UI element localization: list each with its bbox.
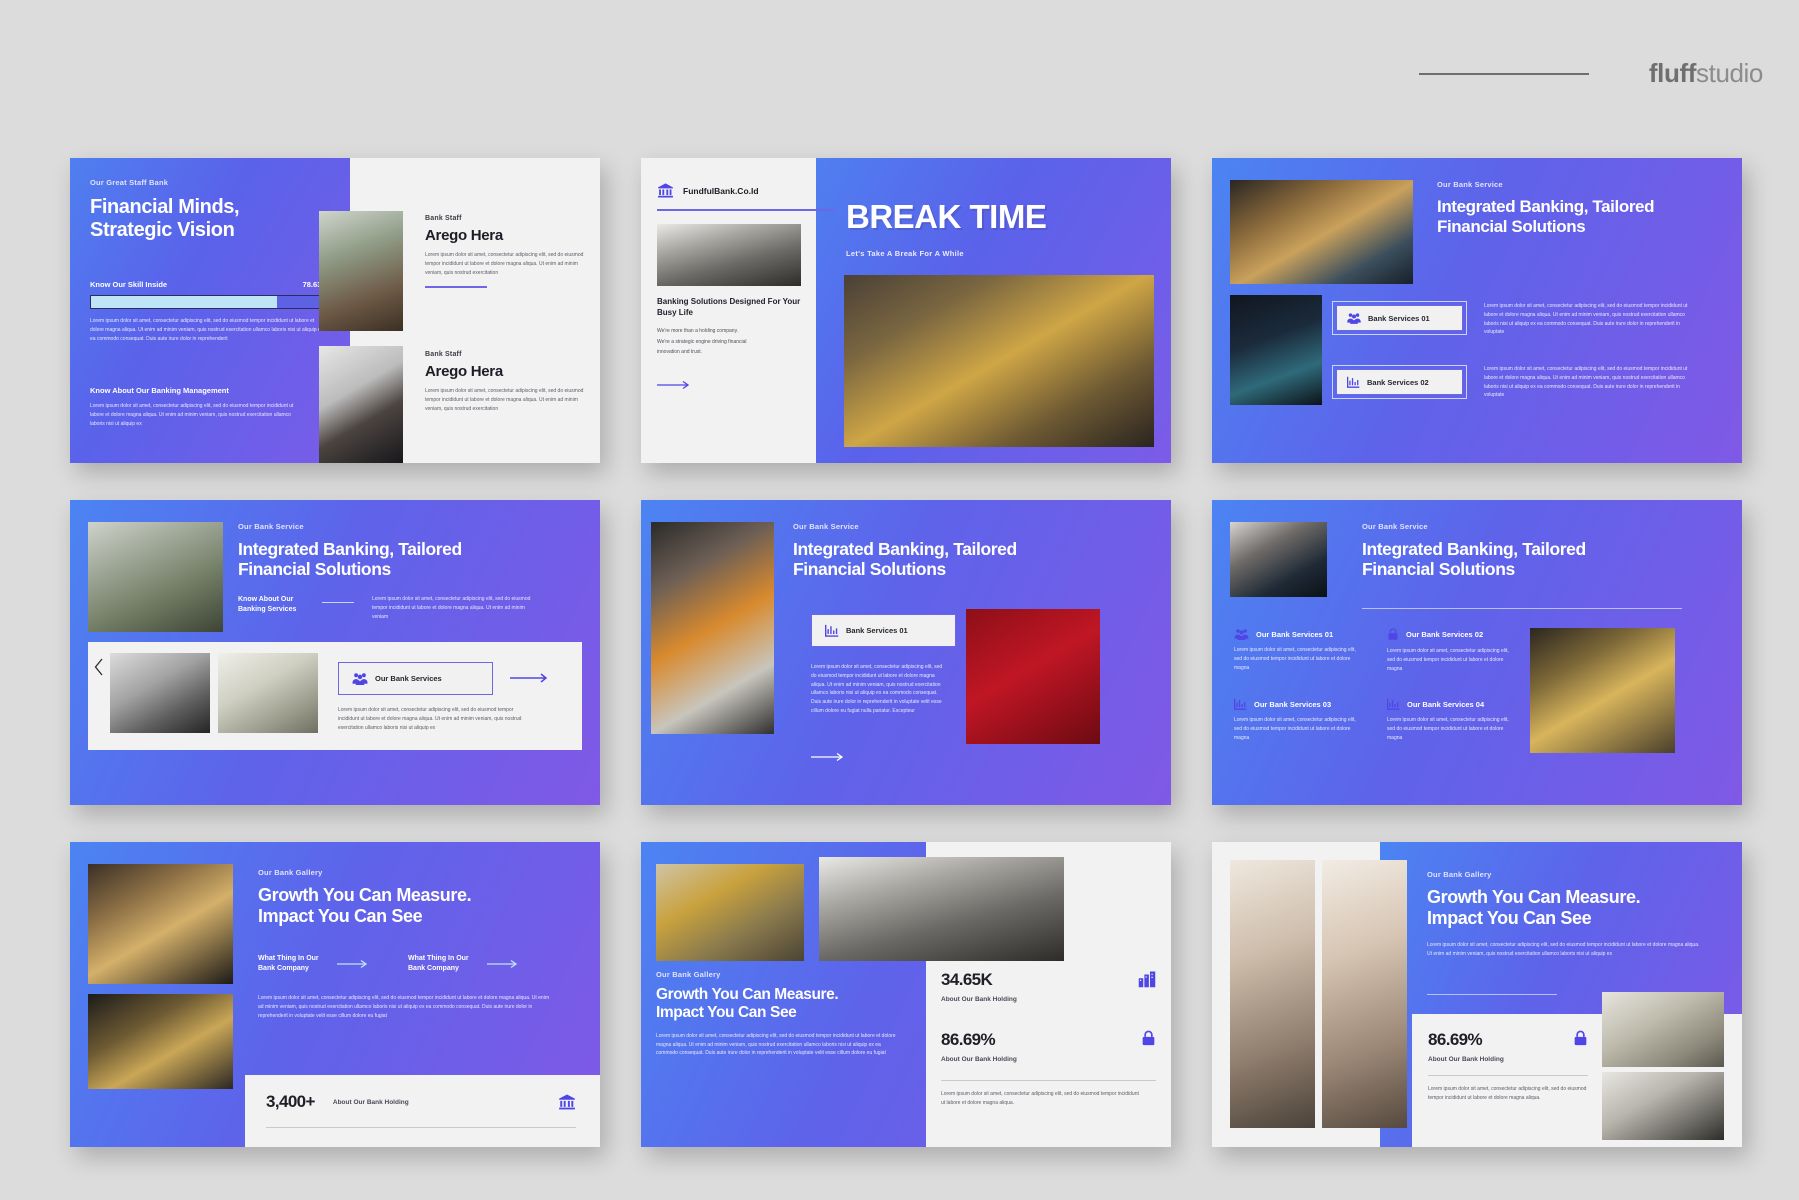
slide7-body: Lorem ipsum dolor sit amet, consectetur … <box>258 994 550 1020</box>
slide9-eyebrow: Our Bank Gallery <box>1427 870 1722 879</box>
slide1-staff-2-role: Bank Staff <box>425 351 585 358</box>
slide6-rule <box>1362 608 1682 609</box>
slide1-eyebrow: Our Great Staff Bank <box>90 178 338 187</box>
slide3-service-1-label: Bank Services 01 <box>1368 314 1430 323</box>
slide-8-growth-stats[interactable]: Our Bank Gallery Growth You Can Measure.… <box>641 842 1171 1147</box>
people-group-icon <box>1347 312 1361 324</box>
slide2-card-title: Banking Solutions Designed For Your Busy… <box>657 296 801 318</box>
slide-4-bank-services[interactable]: Our Bank Service Integrated Banking, Tai… <box>70 500 600 805</box>
slide7-link-2-line2: Bank Company <box>408 964 469 974</box>
slide8-footer-body: Lorem ipsum dolor sit amet, consectetur … <box>941 1090 1141 1108</box>
slide9-family-photo-2 <box>1322 860 1407 1128</box>
fluffstudio-logo: fluffstudio <box>1649 58 1763 89</box>
slide2-bank-photo <box>657 224 801 286</box>
slide6-service-4[interactable]: Our Bank Services 04 Lorem ipsum dolor s… <box>1387 698 1512 742</box>
slide1-staff-photo-2 <box>319 346 403 463</box>
bar-chart-icon <box>825 624 839 637</box>
slide6-service-1-label: Our Bank Services 01 <box>1256 630 1333 639</box>
slide7-cardgold-photo <box>88 994 233 1089</box>
bar-chart-icon <box>1347 376 1360 388</box>
people-group-icon <box>352 672 368 685</box>
slide4-sub-label: Know About Our Banking Services <box>238 595 310 615</box>
slide6-service-1-body: Lorem ipsum dolor sit amet, consectetur … <box>1234 646 1359 672</box>
slide2-card-body-3: innovation and trust. <box>657 347 801 358</box>
slide2-arrow-link[interactable] <box>657 380 693 390</box>
slide9-body: Lorem ipsum dolor sit amet, consectetur … <box>1427 941 1702 959</box>
slide7-link-2-line1: What Thing In Our <box>408 954 469 964</box>
slide8-stat-1: 34.65K About Our Bank Holding <box>941 970 1156 1003</box>
slide3-title: Integrated Banking, Tailored Financial S… <box>1437 197 1677 236</box>
slide-2-break-time[interactable]: FundfulBank.Co.Id Banking Solutions Desi… <box>641 158 1171 463</box>
slide4-sub-body: Lorem ipsum dolor sit amet, consectetur … <box>372 595 532 621</box>
presentation-mockup-page: fluffstudio Our Great Staff Bank Financi… <box>0 0 1799 1200</box>
slide4-sub-rule <box>322 602 354 603</box>
brand-rule <box>1419 73 1589 75</box>
slide4-cash-photo <box>88 522 223 632</box>
slide-9-growth-family[interactable]: Our Bank Gallery Growth You Can Measure.… <box>1212 842 1742 1147</box>
slide2-card-body-1: We're more than a holding company. <box>657 326 801 337</box>
slide3-vault-photo <box>1230 180 1413 284</box>
slide8-title-line1: Growth You Can Measure. <box>656 986 911 1004</box>
slide8-divider <box>941 1080 1156 1081</box>
slide1-staff-1-name: Arego Hera <box>425 227 585 244</box>
slide1-management-body: Lorem ipsum dolor sit amet, consectetur … <box>90 402 305 428</box>
people-group-icon <box>1234 628 1249 640</box>
slide1-staff-2-name: Arego Hera <box>425 363 585 380</box>
slide3-service-1-wrapper[interactable]: Bank Services 01 <box>1332 301 1467 335</box>
skill-progress-bar <box>90 295 328 309</box>
slide9-rule <box>1427 994 1557 995</box>
slide2-gold-photo <box>844 275 1154 447</box>
slide5-service-button[interactable]: Bank Services 01 <box>811 614 956 647</box>
slide3-body-1: Lorem ipsum dolor sit amet, consectetur … <box>1484 302 1689 337</box>
slide6-service-2[interactable]: Our Bank Services 02 Lorem ipsum dolor s… <box>1387 628 1512 673</box>
slide9-family-photo-1 <box>1230 860 1315 1128</box>
slide-6-four-services[interactable]: Our Bank Service Integrated Banking, Tai… <box>1212 500 1742 805</box>
slide1-body: Lorem ipsum dolor sit amet, consectetur … <box>90 317 328 343</box>
slides-grid: Our Great Staff Bank Financial Minds, St… <box>70 158 1742 1147</box>
slide3-service-2-wrapper[interactable]: Bank Services 02 <box>1332 365 1467 399</box>
slide7-title-line2: Impact You Can See <box>258 906 558 927</box>
lock-icon <box>1141 1030 1156 1047</box>
logo-text-light: studio <box>1696 58 1763 88</box>
slide1-staff-1-body: Lorem ipsum dolor sit amet, consectetur … <box>425 251 585 277</box>
bank-building-icon <box>657 182 674 199</box>
slide6-service-4-label: Our Bank Services 04 <box>1407 700 1484 709</box>
slide4-eyebrow: Our Bank Service <box>238 522 533 531</box>
slide4-title: Integrated Banking, Tailored Financial S… <box>238 539 533 580</box>
slide7-link-1-line1: What Thing In Our <box>258 954 319 964</box>
slide4-phone-photo <box>110 653 210 733</box>
slide7-title-line1: Growth You Can Measure. <box>258 885 558 906</box>
slide9-money-photo <box>1602 992 1724 1067</box>
slide9-title-line1: Growth You Can Measure. <box>1427 887 1722 908</box>
slide2-title: BREAK TIME <box>846 198 1156 236</box>
slide3-service-1-button[interactable]: Bank Services 01 <box>1336 305 1463 331</box>
slide1-staff-photo-1 <box>319 211 403 331</box>
brand-bar: fluffstudio <box>1419 58 1763 89</box>
logo-text-bold: fluff <box>1649 58 1696 88</box>
arrow-right-icon <box>487 959 521 969</box>
slide3-body-2: Lorem ipsum dolor sit amet, consectetur … <box>1484 365 1689 400</box>
slide7-stat-value: 3,400+ <box>266 1092 315 1112</box>
skill-progress-fill <box>91 296 277 308</box>
slide7-eyebrow: Our Bank Gallery <box>258 868 558 877</box>
slide8-stat-1-label: About Our Bank Holding <box>941 996 1156 1003</box>
slide9-stat-value: 86.69% <box>1428 1030 1482 1050</box>
slide8-title-line2: Impact You Can See <box>656 1004 911 1022</box>
slide6-service-2-label: Our Bank Services 02 <box>1406 630 1483 639</box>
slide4-card-body: Lorem ipsum dolor sit amet, consectetur … <box>338 706 533 732</box>
slide5-title: Integrated Banking, Tailored Financial S… <box>793 539 1093 580</box>
slide4-service-button[interactable]: Our Bank Services <box>338 662 493 695</box>
slide2-rule <box>657 209 835 211</box>
slide1-title-line2: Strategic Vision <box>90 219 338 242</box>
slide7-link-1-line2: Bank Company <box>258 964 319 974</box>
slide6-laptop-photo <box>1230 522 1327 597</box>
slide8-stat-2-label: About Our Bank Holding <box>941 1056 1156 1063</box>
slide3-service-2-label: Bank Services 02 <box>1367 378 1429 387</box>
slide1-title-line1: Financial Minds, <box>90 196 338 219</box>
slide9-stat-label: About Our Bank Holding <box>1428 1056 1588 1063</box>
slide4-next-arrow[interactable] <box>510 672 552 684</box>
slide7-stat-label: About Our Bank Holding <box>333 1099 409 1106</box>
slide2-subtitle: Let's Take A Break For A While <box>846 249 1156 258</box>
slide6-service-4-body: Lorem ipsum dolor sit amet, consectetur … <box>1387 716 1512 742</box>
slide6-service-3[interactable]: Our Bank Services 03 Lorem ipsum dolor s… <box>1234 698 1359 742</box>
slide5-card-photo <box>651 522 774 734</box>
slide1-management-label: Know About Our Banking Management <box>90 386 305 395</box>
slide5-gold-red-photo <box>966 609 1100 744</box>
slide1-staff-1-role: Bank Staff <box>425 215 585 222</box>
slide8-eyebrow: Our Bank Gallery <box>656 970 911 979</box>
slide3-eyebrow: Our Bank Service <box>1437 180 1677 189</box>
slide9-calc-photo <box>1602 1072 1724 1140</box>
slide5-body: Lorem ipsum dolor sit amet, consectetur … <box>811 663 944 716</box>
slide7-link-1[interactable]: What Thing In Our Bank Company <box>258 954 371 974</box>
slide4-service-label: Our Bank Services <box>375 674 442 683</box>
bar-chart-icon <box>1387 698 1400 710</box>
slide-1-financial-minds[interactable]: Our Great Staff Bank Financial Minds, St… <box>70 158 600 463</box>
slide7-watch-photo <box>88 864 233 984</box>
slide2-brand: FundfulBank.Co.Id <box>683 186 759 196</box>
slide6-eyebrow: Our Bank Service <box>1362 522 1662 531</box>
slide9-divider <box>1428 1075 1588 1076</box>
slide8-stat-2: 86.69% About Our Bank Holding <box>941 1030 1156 1063</box>
slide3-stock-photo <box>1230 295 1322 405</box>
slide6-service-3-body: Lorem ipsum dolor sit amet, consectetur … <box>1234 716 1359 742</box>
slide5-eyebrow: Our Bank Service <box>793 522 1093 531</box>
slide6-service-2-body: Lorem ipsum dolor sit amet, consectetur … <box>1387 647 1512 673</box>
lock-icon <box>1573 1030 1588 1047</box>
slide3-service-2-button[interactable]: Bank Services 02 <box>1336 369 1463 395</box>
slide7-link-2[interactable]: What Thing In Our Bank Company <box>408 954 521 974</box>
slide8-stat-1-value: 34.65K <box>941 970 992 990</box>
slide4-bills-photo <box>218 653 318 733</box>
slide-5-bank-services-01[interactable]: Our Bank Service Integrated Banking, Tai… <box>641 500 1171 805</box>
slide4-prev-arrow[interactable] <box>94 658 104 676</box>
slide2-card-body-2: We're a strategic engine driving financi… <box>657 337 801 348</box>
bank-building-icon <box>558 1093 576 1111</box>
bar-chart-icon <box>1234 698 1247 710</box>
slide1-skill-label: Know Our Skill Inside <box>90 280 167 289</box>
slide8-coins-photo <box>656 864 804 961</box>
slide8-stat-2-value: 86.69% <box>941 1030 995 1050</box>
slide1-staff-1-rule <box>425 286 487 288</box>
slide6-goldbar-photo <box>1530 628 1675 753</box>
lock-icon <box>1387 628 1399 641</box>
slide6-title: Integrated Banking, Tailored Financial S… <box>1362 539 1662 580</box>
slide6-service-3-label: Our Bank Services 03 <box>1254 700 1331 709</box>
slide7-stat-divider <box>266 1127 576 1128</box>
city-buildings-icon <box>1138 970 1156 988</box>
slide8-bank-photo <box>819 857 1064 961</box>
slide5-arrow-link[interactable] <box>811 752 847 762</box>
slide8-body: Lorem ipsum dolor sit amet, consectetur … <box>656 1032 896 1058</box>
slide9-title-line2: Impact You Can See <box>1427 908 1722 929</box>
slide-3-integrated-banking[interactable]: Our Bank Service Integrated Banking, Tai… <box>1212 158 1742 463</box>
slide5-service-label: Bank Services 01 <box>846 626 908 635</box>
slide-7-growth-gallery[interactable]: Our Bank Gallery Growth You Can Measure.… <box>70 842 600 1147</box>
slide9-footer-body: Lorem ipsum dolor sit amet, consectetur … <box>1428 1085 1588 1103</box>
slide1-staff-2-body: Lorem ipsum dolor sit amet, consectetur … <box>425 387 585 413</box>
arrow-right-icon <box>337 959 371 969</box>
slide6-service-1[interactable]: Our Bank Services 01 Lorem ipsum dolor s… <box>1234 628 1359 672</box>
